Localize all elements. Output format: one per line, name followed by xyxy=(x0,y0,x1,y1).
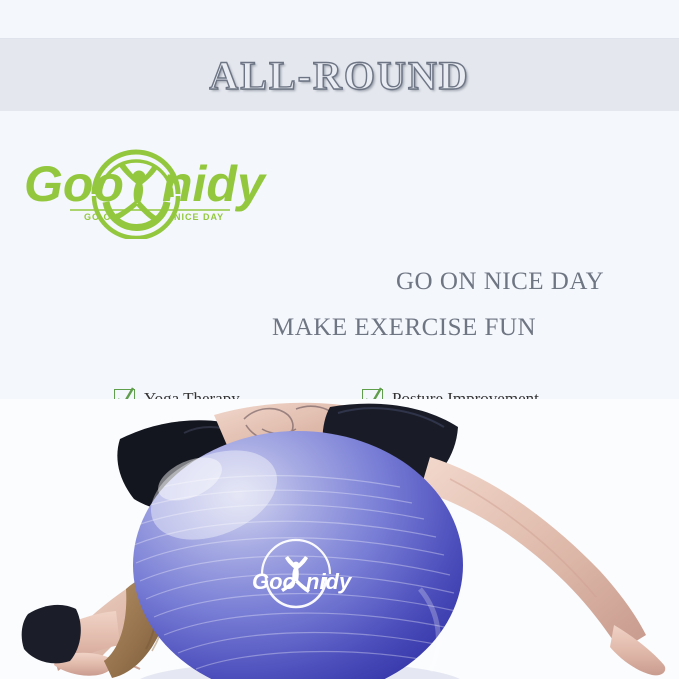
logo-tagline-right: NICE DAY xyxy=(174,212,224,222)
top-margin xyxy=(0,0,679,38)
tagline-primary: GO ON NICE DAY xyxy=(396,268,604,296)
logo-tagline-left: GO ON xyxy=(84,212,119,222)
product-marketing-image: ALL-ROUND Goo xyxy=(0,0,679,679)
tagline-secondary: MAKE EXERCISE FUN xyxy=(272,314,536,342)
ball-logo-text-right: nidy xyxy=(306,569,353,594)
header-band: ALL-ROUND xyxy=(0,38,679,112)
ball-logo-text-left: Goo xyxy=(252,569,296,594)
logo-wordmark-left: Goo xyxy=(24,156,124,212)
brand-logo: Goo nidy GO ON NICE DAY xyxy=(22,139,272,239)
model-wristband xyxy=(22,605,81,663)
page-title: ALL-ROUND xyxy=(209,52,469,99)
info-panel: Goo nidy GO ON NICE DAY GO ON NICE DAY M… xyxy=(0,111,679,399)
logo-wordmark-right: nidy xyxy=(162,156,267,212)
product-photo: Goo nidy xyxy=(0,399,679,679)
